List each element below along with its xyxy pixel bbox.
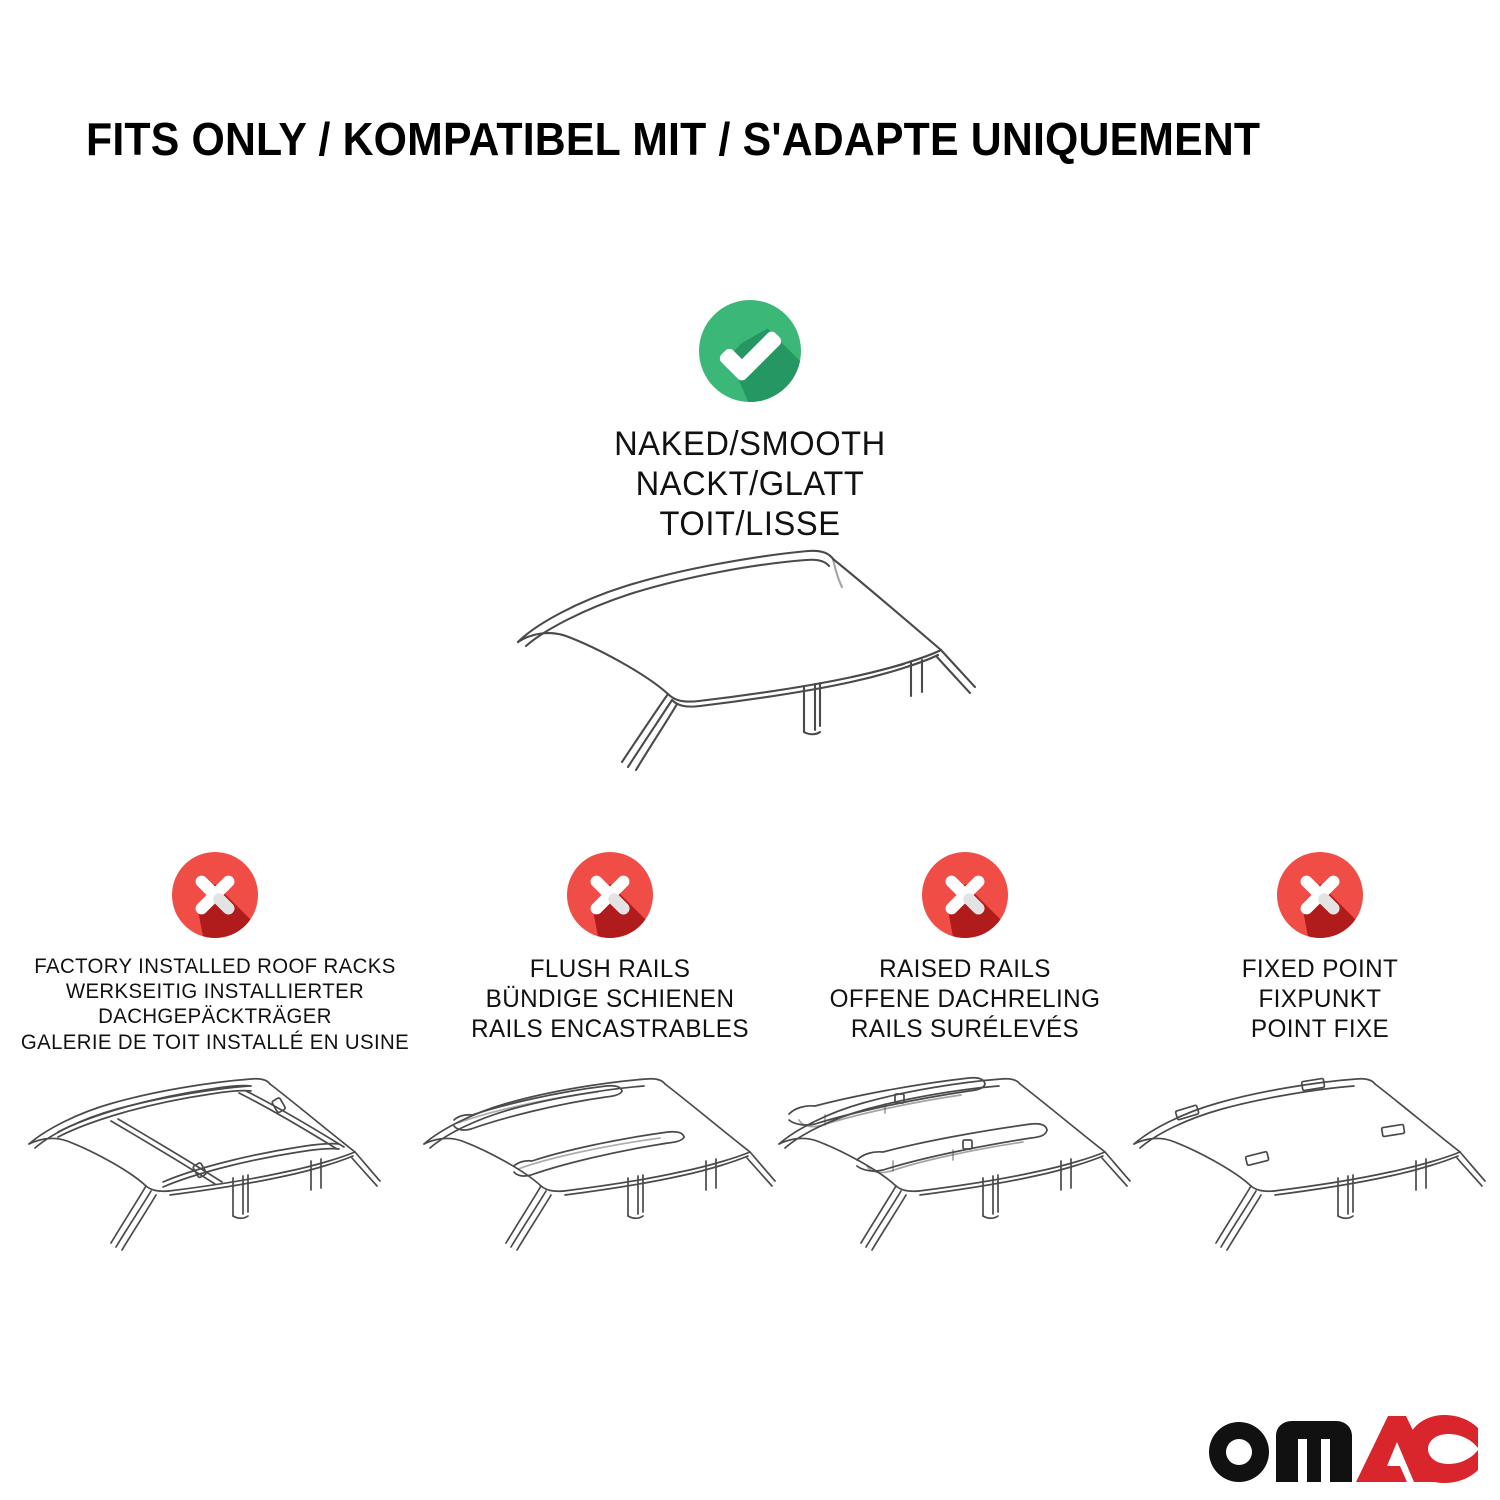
car-roof-fixed-point-illustration [1120, 1058, 1500, 1273]
car-roof-flush-rails-illustration [410, 1058, 810, 1273]
omac-logo [1190, 1394, 1480, 1494]
label-en: FIXED POINT [1145, 954, 1494, 984]
incompatible-labels: RAISED RAILS OFFENE DACHRELING RAILS SUR… [795, 954, 1135, 1044]
label-fr: RAILS SURÉLEVÉS [795, 1014, 1135, 1044]
incompatible-section: FACTORY INSTALLED ROOF RACKS WERKSEITIG … [0, 848, 1500, 1055]
incompatible-labels: FLUSH RAILS BÜNDIGE SCHIENEN RAILS ENCAS… [435, 954, 784, 1044]
label-de: BÜNDIGE SCHIENEN [435, 984, 784, 1014]
car-roof-naked-smooth-illustration [486, 524, 1026, 804]
car-roof-factory-racks-illustration [15, 1058, 415, 1273]
label-de: FIXPUNKT [1145, 984, 1494, 1014]
label-en: FACTORY INSTALLED ROOF RACKS [6, 954, 423, 979]
label-de-1: WERKSEITIG INSTALLIERTER [6, 979, 423, 1004]
incompatible-labels: FIXED POINT FIXPUNKT POINT FIXE [1145, 954, 1494, 1044]
label-fr: RAILS ENCASTRABLES [435, 1014, 784, 1044]
label-en: FLUSH RAILS [435, 954, 784, 984]
incompatible-column-factory-racks: FACTORY INSTALLED ROOF RACKS WERKSEITIG … [0, 848, 430, 1055]
incompatible-column-fixed-point: FIXED POINT FIXPUNKT POINT FIXE [1140, 848, 1500, 1055]
x-circle-icon [918, 848, 1012, 942]
x-circle-icon [168, 848, 262, 942]
incompatible-labels: FACTORY INSTALLED ROOF RACKS WERKSEITIG … [6, 954, 423, 1055]
label-en: RAISED RAILS [795, 954, 1135, 984]
compatible-label-en: NAKED/SMOOTH [30, 424, 1470, 464]
label-de-2: DACHGEPÄCKTRÄGER [6, 1004, 423, 1029]
page-title: FITS ONLY / KOMPATIBEL MIT / S'ADAPTE UN… [86, 112, 1260, 166]
label-fr: POINT FIXE [1145, 1014, 1494, 1044]
incompatible-column-flush-rails: FLUSH RAILS BÜNDIGE SCHIENEN RAILS ENCAS… [430, 848, 790, 1055]
label-de: OFFENE DACHRELING [795, 984, 1135, 1014]
compatible-label-de: NACKT/GLATT [30, 464, 1470, 504]
compatible-section: NAKED/SMOOTH NACKT/GLATT TOIT/LISSE [0, 296, 1500, 544]
incompatible-column-raised-rails: RAISED RAILS OFFENE DACHRELING RAILS SUR… [790, 848, 1140, 1055]
x-circle-icon [563, 848, 657, 942]
check-circle-icon [695, 296, 805, 406]
x-circle-icon [1273, 848, 1367, 942]
car-roof-raised-rails-illustration [765, 1058, 1165, 1273]
label-fr: GALERIE DE TOIT INSTALLÉ EN USINE [6, 1030, 423, 1055]
